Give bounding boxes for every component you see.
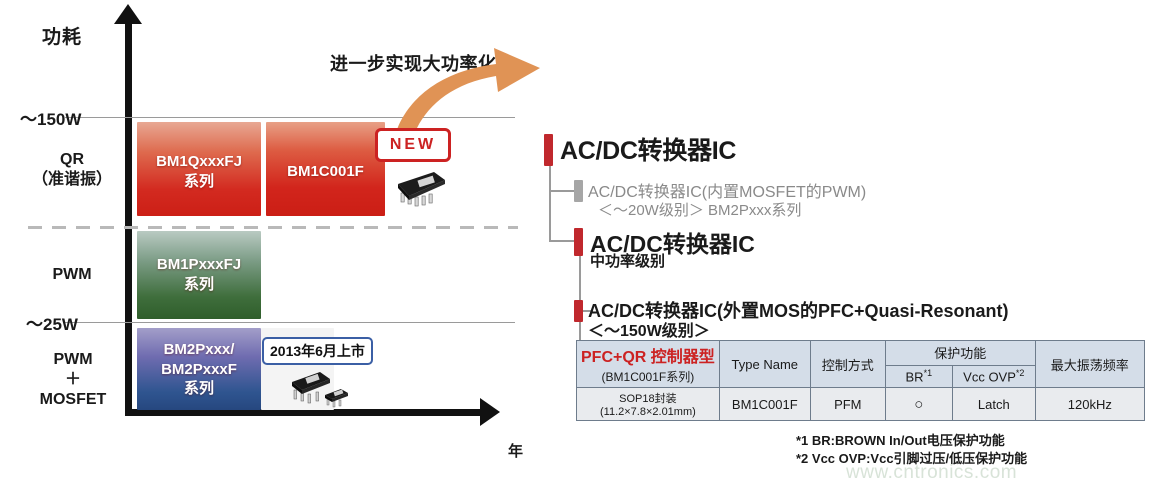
table-package-name: SOP18封装 (581, 390, 715, 406)
release-date-callout: 2013年6月上市 (262, 337, 373, 365)
x-axis-arrow-icon (480, 398, 500, 426)
table-header-br-sup: *1 (924, 368, 933, 378)
y-axis-label: 功耗 (42, 22, 82, 49)
hierarchy-subtitle-2: ＜～20W级别＞ BM2Pxxx系列 (598, 199, 801, 220)
bar-bm1c001f[interactable]: BM1C001F (266, 122, 385, 216)
divider-dashed-line (28, 226, 518, 229)
table-left-header-cell: PFC+QR 控制器型 (BM1C001F系列) (577, 341, 720, 388)
table-header-protection: 保护功能 (885, 341, 1035, 366)
table-cell-br: ○ (885, 388, 952, 421)
slide-root: 功耗 年 ～150W ～25W QR （准谐振） PWM PWM ＋ MOSFE… (0, 0, 1156, 483)
hierarchy-subtitle-3: 中功率级别 (590, 250, 665, 271)
table-left-title: PFC+QR 控制器型 (581, 343, 715, 367)
tree-trunk-line (549, 166, 551, 241)
table-header-vcc-label: Vcc OVP (963, 370, 1016, 385)
category-qr: QR （准谐振） (22, 150, 122, 190)
new-badge: NEW (375, 128, 451, 162)
hierarchy-title-1: AC/DC转换器IC (560, 131, 736, 167)
category-pwm: PWM (22, 265, 122, 285)
tree-branch-node3 (549, 240, 575, 242)
table-header-vcc-ovp: Vcc OVP*2 (952, 365, 1035, 387)
table-cell-type-name: BM1C001F (719, 388, 810, 421)
watermark: www.cntronics.com (846, 462, 1017, 484)
table-left-series: (BM1C001F系列) (581, 368, 715, 385)
hierarchy-subtitle-4: ＜～150W级别＞ (588, 317, 710, 341)
x-axis-label: 年 (508, 440, 523, 461)
bar-label-bm1c001f: BM1C001F (266, 162, 385, 182)
bar-label-bm1qxxxfj: BM1QxxxFJ 系列 (137, 152, 261, 191)
ytick-150w: ～150W (20, 105, 81, 130)
tree-branch-node2 (549, 190, 575, 192)
x-axis (125, 409, 485, 416)
table-cell-max-freq: 120kHz (1035, 388, 1144, 421)
table-header-br: BR*1 (885, 365, 952, 387)
bar-bm2pxxx[interactable]: BM2Pxxx/ BM2PxxxF 系列 (137, 328, 261, 410)
gridline-25w (65, 322, 515, 323)
spec-table: PFC+QR 控制器型 (BM1C001F系列) Type Name 控制方式 … (576, 340, 1145, 421)
bar-label-bm1pxxxfj: BM1PxxxFJ 系列 (137, 255, 261, 294)
bar-bm1qxxxfj[interactable]: BM1QxxxFJ 系列 (137, 122, 261, 216)
sop-chip-image (322, 386, 350, 408)
table-package-dimensions: (11.2×7.8×2.01mm) (581, 406, 715, 418)
hierarchy-marker-1 (544, 134, 553, 166)
table-cell-control: PFM (810, 388, 885, 421)
sop18-chip-image (392, 166, 448, 208)
positioning-chart: 功耗 年 ～150W ～25W QR （准谐振） PWM PWM ＋ MOSFE… (0, 0, 575, 483)
table-header-max-freq: 最大振荡频率 (1035, 341, 1144, 388)
bar-bm1pxxxfj[interactable]: BM1PxxxFJ 系列 (137, 231, 261, 319)
table-package-cell: SOP18封装 (11.2×7.8×2.01mm) (577, 388, 720, 421)
table-header-br-label: BR (906, 370, 924, 385)
table-header-type-name: Type Name (719, 341, 810, 388)
category-pwm-mosfet: PWM ＋ MOSFET (18, 350, 128, 410)
new-badge-label: NEW (390, 136, 436, 154)
table-row: SOP18封装 (11.2×7.8×2.01mm) BM1C001F PFM ○… (577, 388, 1145, 421)
product-hierarchy-panel: AC/DC转换器IC AC/DC转换器IC(内置MOSFET的PWM) ＜～20… (536, 0, 1156, 483)
table-header-row-1: PFC+QR 控制器型 (BM1C001F系列) Type Name 控制方式 … (577, 341, 1145, 366)
ytick-25w: ～25W (26, 310, 78, 335)
bar-label-bm2pxxx: BM2Pxxx/ BM2PxxxF 系列 (137, 340, 261, 399)
hierarchy-marker-3 (574, 228, 583, 256)
y-axis-arrow-icon (114, 4, 142, 24)
table-header-control: 控制方式 (810, 341, 885, 388)
table-header-vcc-sup: *2 (1016, 368, 1025, 378)
hierarchy-marker-4 (574, 300, 583, 322)
table-cell-vcc-ovp: Latch (952, 388, 1035, 421)
hierarchy-marker-2 (574, 180, 583, 202)
